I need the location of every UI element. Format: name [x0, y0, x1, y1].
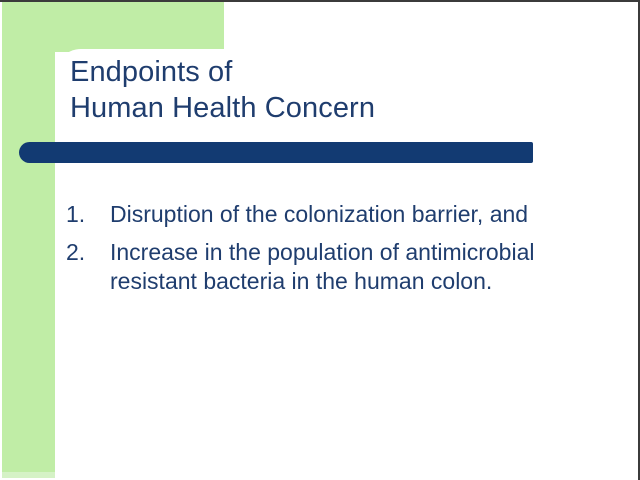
list-item: 1. Disruption of the colonization barrie…: [66, 200, 596, 229]
slide-bullet-list: 1. Disruption of the colonization barrie…: [66, 200, 596, 305]
list-item-text: Increase in the population of antimicrob…: [110, 238, 596, 296]
list-item-marker: 1.: [66, 200, 110, 229]
list-item: 2. Increase in the population of antimic…: [66, 238, 596, 296]
list-item-marker: 2.: [66, 238, 110, 267]
slide-title: Endpoints of Human Health Concern: [70, 54, 610, 126]
presentation-slide: Endpoints of Human Health Concern 1. Dis…: [0, 0, 640, 480]
list-item-text: Disruption of the colonization barrier, …: [110, 200, 596, 229]
title-divider-bar: [19, 142, 533, 163]
green-side-strip: [2, 2, 55, 476]
green-side-strip-footer: [2, 472, 55, 478]
